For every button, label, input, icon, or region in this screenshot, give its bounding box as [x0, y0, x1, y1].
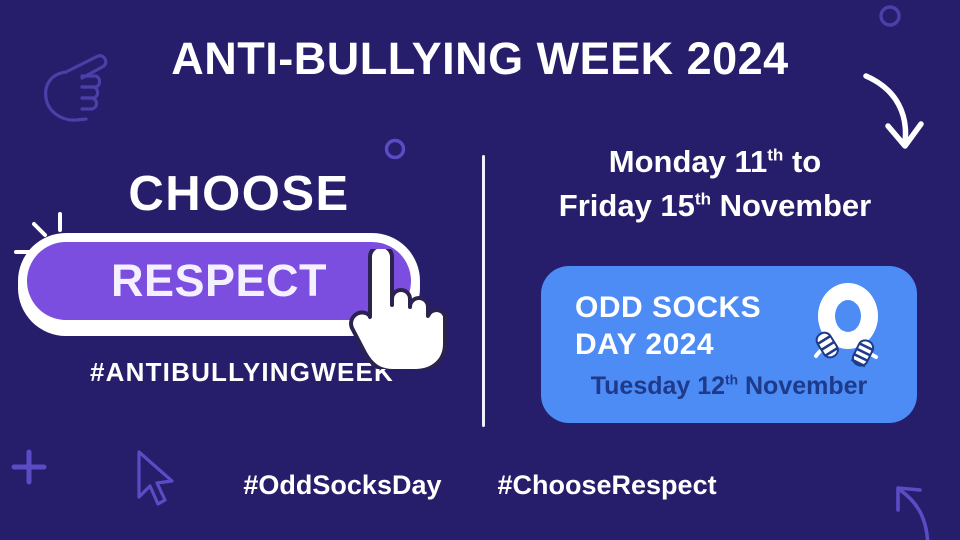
date-line1-suffix: to [783, 144, 821, 179]
date-line2-ordinal: th [695, 190, 711, 209]
odd-socks-date: Tuesday 12th November [541, 372, 917, 401]
date-line1-prefix: Monday 11 [609, 144, 768, 179]
anti-bullying-week-poster: ANTI-BULLYING WEEK 2024 CHOOSE RESPECT #… [0, 0, 960, 540]
date-range: Monday 11th to Friday 15th November [495, 140, 935, 228]
odd-socks-date-ordinal: th [725, 373, 738, 388]
date-line1-ordinal: th [767, 146, 783, 165]
hashtag-oddsocksday: #OddSocksDay [243, 470, 441, 501]
circle-outline-doodle-icon [382, 136, 408, 162]
choose-respect-block: CHOOSE RESPECT #ANTIBULLYINGWEEK [0, 170, 470, 388]
date-range-line-1: Monday 11th to [495, 140, 935, 184]
vertical-divider [482, 155, 485, 427]
odd-socks-date-suffix: November [738, 372, 867, 400]
odd-socks-date-prefix: Tuesday 12 [591, 372, 725, 400]
sparkle-icon [8, 208, 88, 278]
footer-hashtags: #OddSocksDay #ChooseRespect [0, 470, 960, 501]
page-title: ANTI-BULLYING WEEK 2024 [0, 36, 960, 81]
date-line2-suffix: November [711, 188, 871, 223]
odd-socks-title: ODD SOCKS DAY 2024 [575, 290, 825, 364]
circle-outline-doodle-icon [876, 2, 904, 30]
odd-socks-title-line-1: ODD SOCKS [575, 290, 825, 327]
odd-socks-title-line-2: DAY 2024 [575, 327, 825, 364]
date-range-line-2: Friday 15th November [495, 184, 935, 228]
date-line2-prefix: Friday 15 [559, 188, 695, 223]
hashtag-chooserespect: #ChooseRespect [498, 470, 717, 501]
pointing-hand-cursor-icon [340, 249, 450, 369]
odd-socks-day-card[interactable]: ODD SOCKS DAY 2024 [541, 266, 917, 423]
odd-socks-o-logo-icon [796, 280, 906, 380]
